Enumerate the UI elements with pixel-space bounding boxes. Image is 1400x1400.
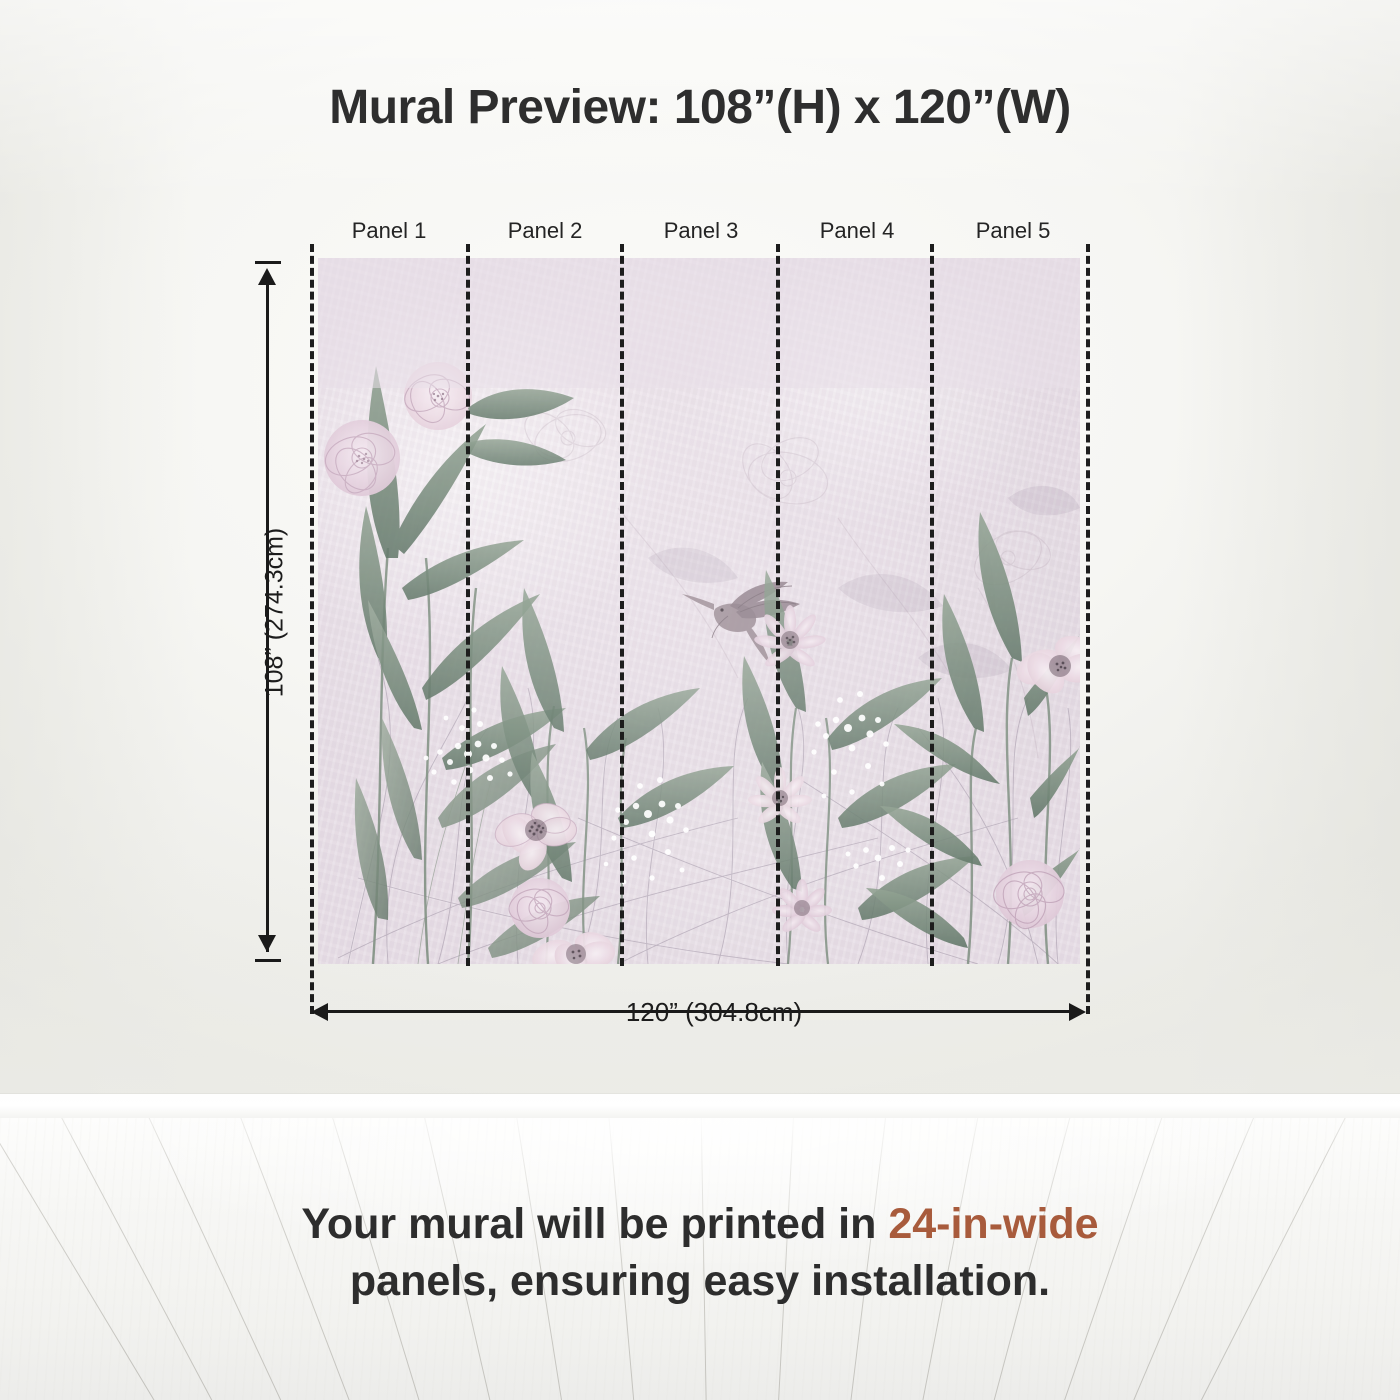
panel-divider-left-edge (310, 244, 314, 1014)
width-dimension-label: 120” (304.8cm) (0, 997, 1400, 1028)
panel-divider-right-edge (1086, 244, 1090, 1014)
mural-artwork (318, 258, 1080, 964)
panel-label-2: Panel 2 (468, 218, 622, 244)
panel-label-1: Panel 1 (312, 218, 466, 244)
height-dimension-label: 108” (274.3cm) (261, 503, 290, 723)
panel-divider-1 (466, 244, 470, 966)
footer-caption: Your mural will be printed in 24-in-wide… (0, 1196, 1400, 1310)
height-arrow-down (258, 935, 276, 952)
panel-divider-3 (776, 244, 780, 966)
panel-label-4: Panel 4 (780, 218, 934, 244)
height-tick-bottom (255, 959, 281, 962)
mural-preview-screenshot: Mural Preview: 108”(H) x 120”(W) (0, 0, 1400, 1400)
panel-divider-2 (620, 244, 624, 966)
caption-line-1: Your mural will be printed in 24-in-wide (0, 1196, 1400, 1253)
mural-botanical-illustration (318, 258, 1080, 964)
panel-label-5: Panel 5 (936, 218, 1090, 244)
room-baseboard (0, 1094, 1400, 1120)
height-arrow-up (258, 268, 276, 285)
caption-line-1-text: Your mural will be printed in (301, 1200, 888, 1248)
caption-line-2: panels, ensuring easy installation. (0, 1253, 1400, 1310)
panel-label-3: Panel 3 (624, 218, 778, 244)
height-tick-top (255, 261, 281, 264)
caption-accent-text: 24-in-wide (888, 1200, 1098, 1248)
panel-divider-4 (930, 244, 934, 966)
page-title: Mural Preview: 108”(H) x 120”(W) (0, 80, 1400, 135)
